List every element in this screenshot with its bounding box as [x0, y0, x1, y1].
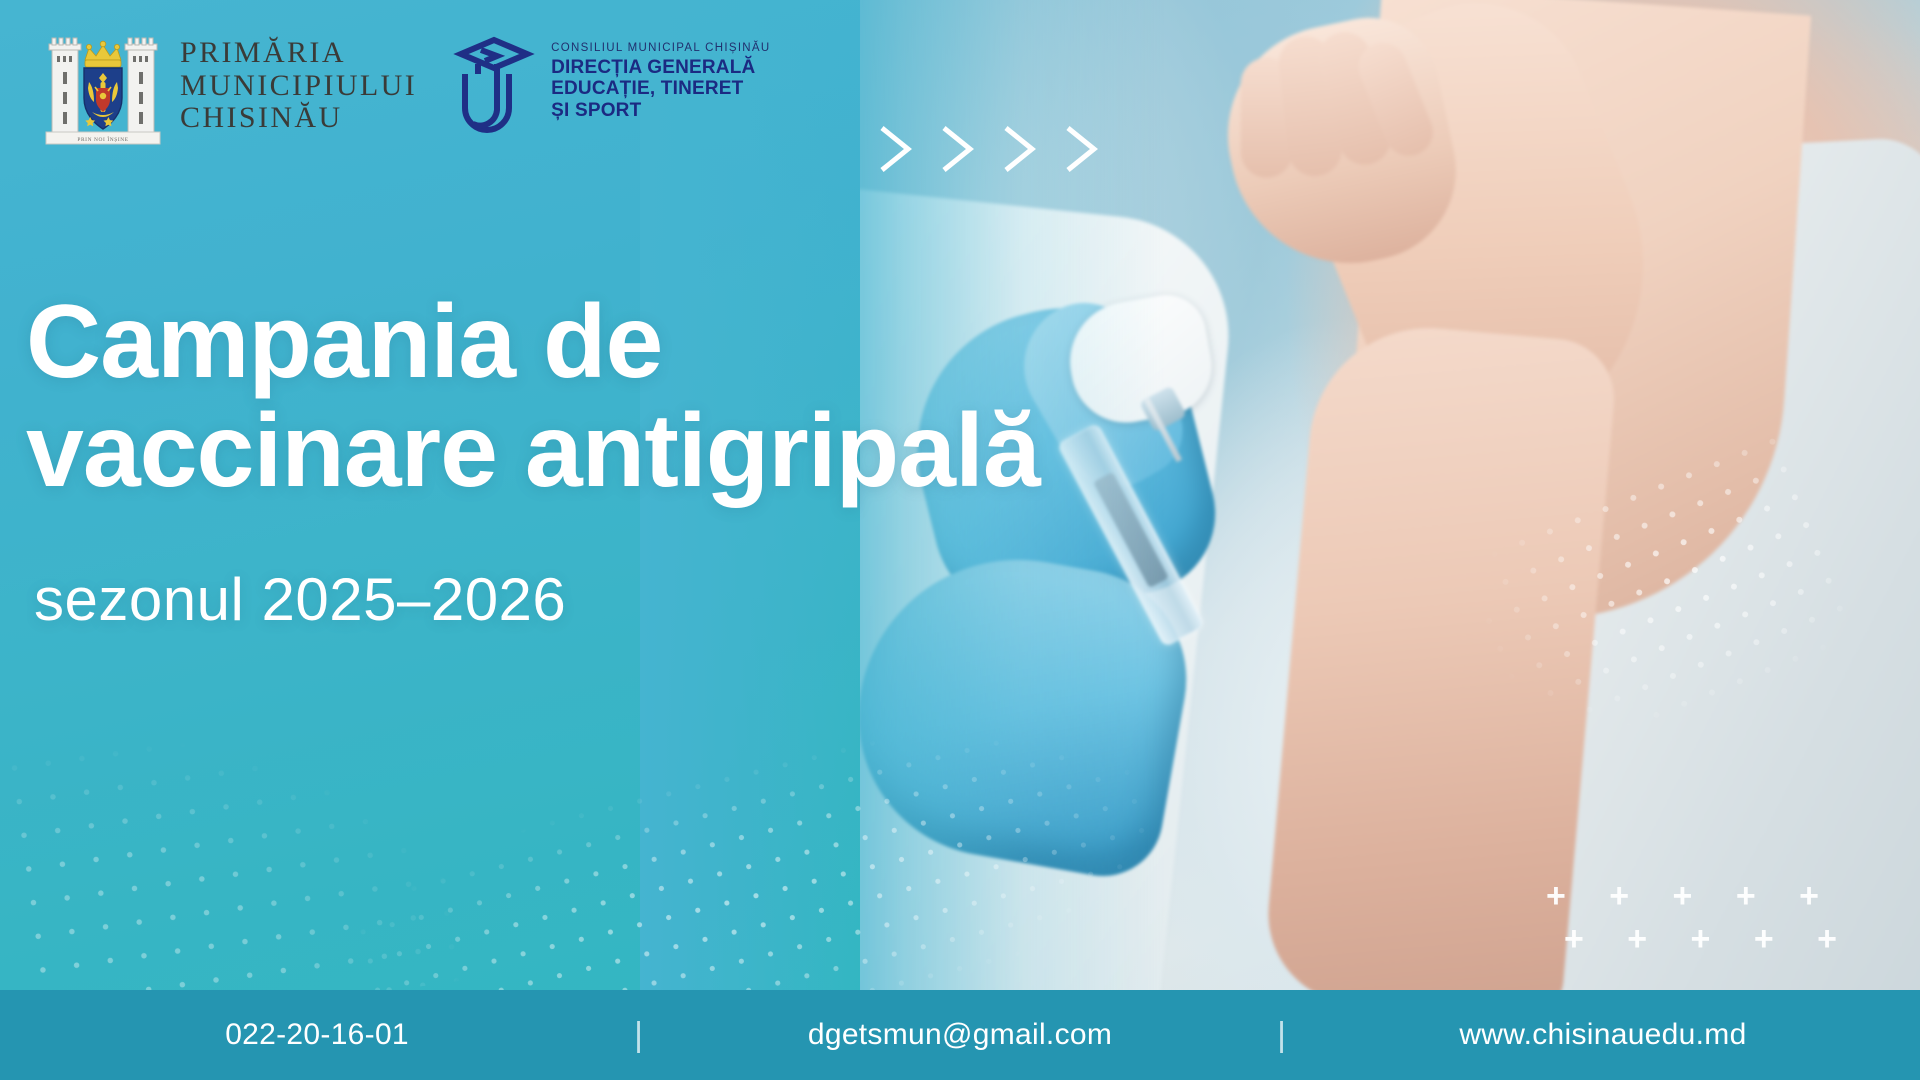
chevron-right-icon	[992, 120, 1050, 183]
dgets-logo-text: CONSILIUL MUNICIPAL CHIȘINĂU DIRECȚIA GE…	[551, 42, 770, 121]
graduation-cap-monogram-icon	[451, 34, 537, 134]
footer-separator: |	[1277, 1016, 1286, 1055]
primaria-line-2: MUNICIPIULUI	[180, 70, 417, 102]
footer-separator: |	[634, 1016, 643, 1055]
vaccination-campaign-poster: PRIN NOI ÎNȘINE PRIMĂRIA MUNICIPIULUI CH…	[0, 0, 1920, 1080]
headline-line-1: Campania de	[26, 288, 1040, 397]
dgets-logo: CONSILIUL MUNICIPAL CHIȘINĂU DIRECȚIA GE…	[451, 34, 770, 134]
contact-footer: 022-20-16-01 | dgetsmun@gmail.com | www.…	[0, 990, 1920, 1080]
footer-website[interactable]: www.chisinauedu.md	[1286, 1018, 1920, 1052]
logo-bar: PRIN NOI ÎNȘINE PRIMĂRIA MUNICIPIULUI CH…	[44, 26, 771, 146]
chevron-right-icon	[930, 120, 988, 183]
headline-line-2: vaccinare antigripală	[26, 397, 1040, 506]
page-title: Campania de vaccinare antigripală	[26, 288, 1040, 506]
dgets-eyebrow: CONSILIUL MUNICIPAL CHIȘINĂU	[551, 42, 770, 54]
chevron-decoration	[868, 120, 1112, 183]
plus-row-1: + + + + +	[1546, 875, 1836, 918]
primaria-logo-text: PRIMĂRIA MUNICIPIULUI CHISINĂU	[180, 37, 417, 134]
dgets-line-3: ȘI SPORT	[551, 100, 770, 121]
svg-text:PRIN NOI ÎNȘINE: PRIN NOI ÎNȘINE	[77, 135, 128, 143]
footer-phone[interactable]: 022-20-16-01	[0, 1018, 634, 1052]
dgets-line-1: DIRECȚIA GENERALĂ	[551, 57, 770, 78]
plus-decoration: + + + + + + + + + +	[1546, 875, 1836, 960]
footer-email[interactable]: dgetsmun@gmail.com	[643, 1018, 1277, 1052]
chevron-right-icon	[1054, 120, 1112, 183]
page-subtitle: sezonul 2025–2026	[34, 565, 566, 634]
primaria-line-3: CHISINĂU	[180, 102, 417, 134]
plus-row-2: + + + + +	[1546, 918, 1854, 961]
dgets-line-2: EDUCAȚIE, TINERET	[551, 78, 770, 99]
primaria-line-1: PRIMĂRIA	[180, 37, 417, 69]
primaria-logo: PRIN NOI ÎNȘINE PRIMĂRIA MUNICIPIULUI CH…	[44, 26, 417, 146]
chevron-right-icon	[868, 120, 926, 183]
chisinau-coat-of-arms-icon: PRIN NOI ÎNȘINE	[44, 26, 162, 146]
